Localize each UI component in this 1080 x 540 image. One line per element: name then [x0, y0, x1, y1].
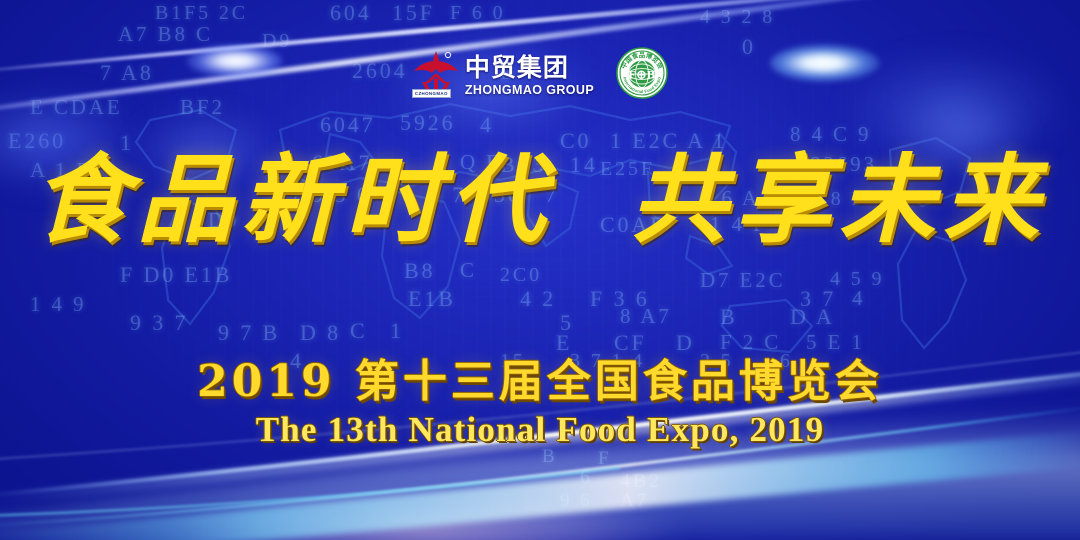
headline-phrase-left: 食品新时代	[33, 152, 553, 248]
logo-row: CZHONGMAO 中贸集团 ZHONGMAO GROUP	[0, 47, 1080, 99]
headline: 食品新时代 共享未来	[0, 152, 1080, 248]
zhongmao-wordmark: 中贸集团 ZHONGMAO GROUP	[465, 56, 594, 98]
zhongmao-badge-text: CZHONGMAO	[412, 89, 451, 98]
national-food-expo-emblem: F⊕B 中国食品博览会 International Food Expo	[616, 47, 668, 99]
zhongmao-chinese-name: 中贸集团	[465, 56, 594, 81]
subtitle-english: The 13th National Food Expo, 2019	[0, 410, 1080, 450]
zhongmao-english-name: ZHONGMAO GROUP	[465, 84, 594, 97]
subtitle-chinese: 2019 第十三届全国食品博览会	[0, 345, 1080, 409]
zhongmao-mark-icon: CZHONGMAO	[412, 49, 460, 97]
zhongmao-group-logo: CZHONGMAO 中贸集团 ZHONGMAO GROUP	[412, 49, 594, 97]
headline-phrase-right: 共享未来	[631, 152, 1047, 248]
food-expo-banner: B1F5 2C60415FF 6 04 3 2 8A7 B8 CD907 A82…	[0, 0, 1080, 540]
svg-text:F⊕B: F⊕B	[629, 68, 656, 82]
